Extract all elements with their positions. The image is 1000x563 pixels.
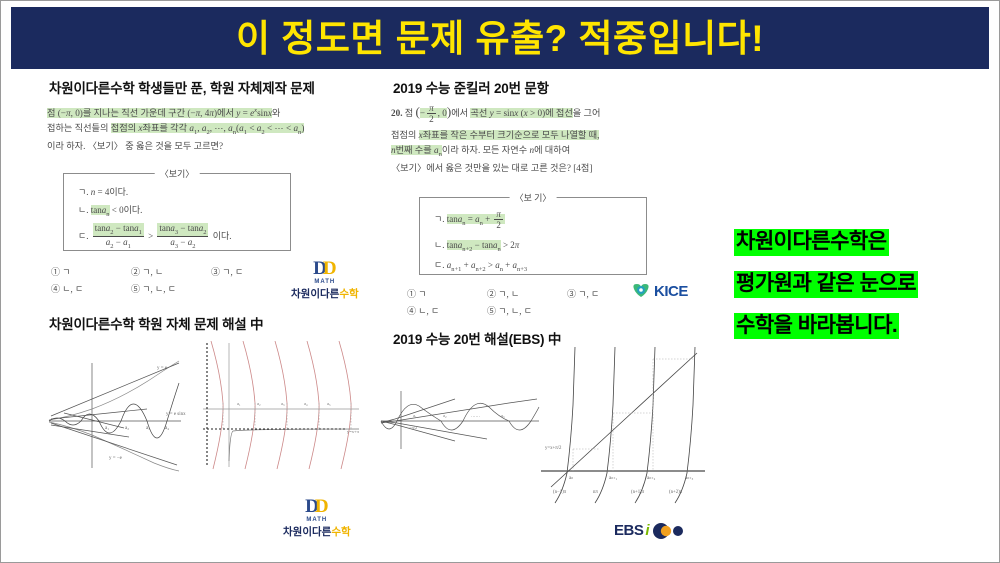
fig-tick-a1: a₁ (105, 426, 109, 431)
right-problem-heading: 2019 수능 준킬러 20번 문항 (393, 77, 549, 97)
right-bogi-label: 〈보 기〉 (510, 191, 557, 204)
dd-math-logo-bottom: D D MATH 차원이다른수학 (283, 497, 351, 539)
fig2-label-line: y=x+π (347, 429, 360, 434)
left-choices: ① ㄱ ② ㄱ, ㄴ ③ ㄱ, ㄷ ④ ㄴ, ㄷ ⑤ ㄱ, ㄴ, ㄷ (51, 265, 291, 299)
dd-logo-mark: D D (283, 497, 351, 516)
left-problem-line-3: 이라 하자. 〈보기〉 중 옳은 것을 모두 고르면? (47, 139, 343, 154)
fig4-axis-n3: (n+2)π (669, 490, 683, 495)
ebsi-logo: EBS i (614, 522, 688, 539)
dd-logo-mark: D D (291, 259, 359, 278)
dd-letter-yellow: D (315, 497, 329, 516)
left-problem-heading: 차원이다른수학 학생들만 푼, 학원 자체제작 문제 (49, 77, 315, 97)
right-problem-body: 20. 점 (−π2, 0)에서 곡선 y = sinx (x > 0)에 접선… (391, 101, 691, 176)
left-bogi-item-2: ㄴ. tanan < 0이다. (78, 203, 280, 218)
left-choice-row: ① ㄱ ② ㄱ, ㄴ ③ ㄱ, ㄷ (51, 265, 291, 278)
dd-logo-sub: MATH (283, 517, 351, 523)
right-bogi-item-2: ㄴ. tanan+2 − tanan > 2π (434, 238, 636, 253)
right-bogi-item-3: ㄷ. an+1 + an+2 > an + an+3 (434, 258, 636, 273)
ebs-label: EBS (614, 522, 643, 539)
fig-tick-a4: a₄ (165, 426, 169, 431)
fig2-tick-a3: a₃ (281, 401, 285, 406)
left-bogi-label: 〈보기〉 (155, 167, 200, 180)
right-solution-figure-sine-tangents: a₁ a₂ a₃ ⋯⋯ −π/2 (379, 359, 544, 464)
left-choice-1[interactable]: ① ㄱ (51, 265, 131, 278)
fig2-tick-a1: a₁ (237, 401, 241, 406)
right-choice-row: ④ ㄴ, ㄷ ⑤ ㄱ, ㄴ, ㄷ (407, 304, 647, 317)
right-bogi-item-1: ㄱ. tanan = an + π2 (434, 209, 636, 231)
kice-mark-icon (631, 282, 651, 300)
slide-canvas: 이 정도면 문제 유출? 적중입니다! 차원이다른수학 학생들만 푼, 학원 자… (0, 0, 1000, 563)
fig3-tick-a3: a₃ (501, 413, 505, 418)
fig-label-exsinx: y = e sinx (166, 412, 186, 417)
fig4-tick-an1: aₙ₊₁ (609, 476, 618, 481)
fig4-axis-n2: (n+1)π (631, 490, 645, 495)
fig2-tick-a5: a₅ (327, 401, 331, 406)
left-problem-body: 점 (−π, 0)를 지나는 직선 가운데 구간 (−π, 4π)에서 y = … (47, 106, 343, 154)
left-choice-row: ④ ㄴ, ㄷ ⑤ ㄱ, ㄴ, ㄷ (51, 282, 291, 295)
slogan-line-1: 차원이다른수학은 (734, 229, 889, 256)
title-banner: 이 정도면 문제 유출? 적중입니다! (11, 7, 989, 69)
fig2-tick-a2: a₂ (257, 401, 261, 406)
fig2-tick-a4: a₄ (304, 401, 308, 406)
dd-logo-name: 차원이다른수학 (283, 524, 351, 539)
left-bogi-item-1: ㄱ. n = 4이다. (78, 185, 280, 198)
fig3-ellipsis: ⋯⋯ (471, 414, 481, 419)
left-solution-figure-tangent-branches: a₁ a₂ a₃ a₄ a₅ y=x+π (199, 341, 374, 471)
fig-label-negex: y = −e (109, 456, 123, 461)
right-problem-number: 20. (391, 108, 402, 118)
left-bogi-box: 〈보기〉 ㄱ. n = 4이다. ㄴ. tanan < 0이다. ㄷ. tana… (63, 173, 291, 251)
fig4-tick-an: aₙ (569, 476, 573, 481)
left-choice-2[interactable]: ② ㄱ, ㄴ (131, 265, 211, 278)
left-choice-4[interactable]: ④ ㄴ, ㄷ (51, 282, 131, 295)
left-problem-line-2: 접하는 직선들의 접점의 x좌표를 각각 a1, a2, ⋯, an(a1 < … (47, 121, 343, 139)
right-choice-blank (567, 304, 647, 317)
right-problem-line-3: n번째 수를 an이라 하자. 모든 자연수 n에 대하여 (391, 143, 691, 161)
dd-name-part1: 차원이다른 (291, 288, 339, 300)
slogan-line-3: 수학을 바라봅니다. (734, 313, 899, 340)
fig4-axis-n: nπ (593, 490, 598, 495)
dd-name-part1: 차원이다른 (283, 526, 331, 538)
page-title: 이 정도면 문제 유출? 적중입니다! (236, 20, 764, 57)
left-choice-5[interactable]: ⑤ ㄱ, ㄴ, ㄷ (131, 282, 211, 295)
right-solution-heading: 2019 수능 20번 해설(EBS) 中 (393, 328, 561, 348)
fig-label-ex: y = e (157, 366, 168, 371)
right-solution-figure-tangent-line: y=x+π/2 aₙ aₙ₊₁ aₙ₊₂ aₙ₊₃ (n−1)π nπ (n+1… (539, 345, 709, 505)
fig4-label-line: y=x+π/2 (545, 446, 562, 451)
fig-tick-a3: a₃ (146, 426, 150, 431)
dd-name-part2: 수학 (331, 526, 350, 538)
right-choice-2[interactable]: ② ㄱ, ㄴ (487, 287, 567, 300)
left-solution-heading: 차원이다른수학 학원 자체 문제 해설 中 (49, 313, 263, 333)
right-problem-line-2: 접점의 x좌표를 작은 수부터 크기순으로 모두 나열할 때, (391, 128, 691, 143)
right-choices: ① ㄱ ② ㄱ, ㄴ ③ ㄱ, ㄷ ④ ㄴ, ㄷ ⑤ ㄱ, ㄴ, ㄷ (407, 287, 647, 321)
right-bogi-box: 〈보 기〉 ㄱ. tanan = an + π2 ㄴ. tanan+2 − ta… (419, 197, 647, 275)
right-problem-line-1: 20. 점 (−π2, 0)에서 곡선 y = sinx (x > 0)에 접선… (391, 101, 691, 125)
fig3-tick-a1: a₁ (413, 413, 417, 418)
slogan-block: 차원이다른수학은 평가원과 같은 눈으로 수학을 바라봅니다. (734, 229, 994, 354)
kice-label: KICE (654, 284, 688, 299)
ebs-mark-icon (652, 523, 688, 539)
ebs-i-label: i (645, 522, 649, 539)
fig-tick-a2: a₂ (125, 426, 129, 431)
right-problem-line-4: 〈보기〉에서 옳은 것만을 있는 대로 고른 것은? [4점] (391, 161, 691, 176)
fig4-tick-an3: aₙ₊₃ (685, 476, 694, 481)
dd-logo-sub: MATH (291, 279, 359, 285)
fig3-axis-mark: −π/2 (409, 425, 417, 430)
fig4-axis-n1: (n−1)π (553, 490, 567, 495)
fig3-tick-a2: a₂ (443, 413, 447, 418)
left-choice-blank (211, 282, 291, 295)
slogan-line-2: 평가원과 같은 눈으로 (734, 271, 918, 298)
left-bogi-item-3: ㄷ. tana2 − tana1a2 − a1 > tana3 − tana2a… (78, 223, 280, 251)
dd-math-logo-top: D D MATH 차원이다른수학 (291, 259, 359, 301)
right-choice-5[interactable]: ⑤ ㄱ, ㄴ, ㄷ (487, 304, 567, 317)
kice-logo: KICE (631, 282, 688, 300)
right-choice-1[interactable]: ① ㄱ (407, 287, 487, 300)
right-choice-row: ① ㄱ ② ㄱ, ㄴ ③ ㄱ, ㄷ (407, 287, 647, 300)
left-problem-line-1: 점 (−π, 0)를 지나는 직선 가운데 구간 (−π, 4π)에서 y = … (47, 106, 343, 121)
left-choice-3[interactable]: ③ ㄱ, ㄷ (211, 265, 291, 278)
dd-logo-name: 차원이다른수학 (291, 286, 359, 301)
fig4-tick-an2: aₙ₊₂ (647, 476, 656, 481)
dd-letter-yellow: D (323, 259, 337, 278)
left-solution-figure-exponential-sine: y = e y = e sinx y = −e a₁ a₂ a₃ a₄ (29, 353, 204, 473)
dd-name-part2: 수학 (339, 288, 358, 300)
right-choice-4[interactable]: ④ ㄴ, ㄷ (407, 304, 487, 317)
